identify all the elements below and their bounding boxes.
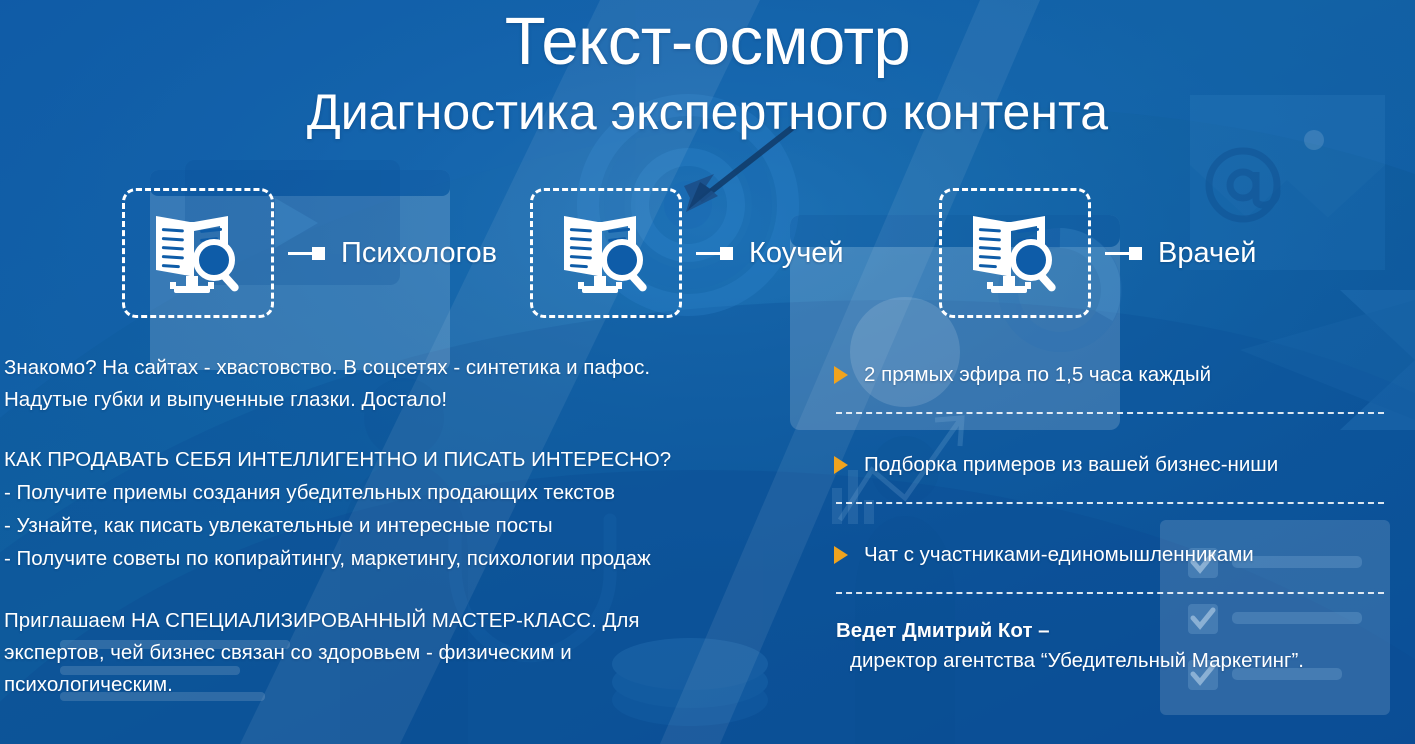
host-name: Ведет Дмитрий Кот – [836,616,1404,646]
triangle-bullet-icon [834,456,848,474]
audience-item-doctors[interactable]: Врачей [939,188,1256,318]
spacer [826,428,1404,442]
audience-label: Коучей [749,237,844,270]
divider [836,592,1384,594]
connector-line [288,252,312,255]
list-item: 2 прямых эфира по 1,5 часа каждый [826,352,1404,398]
list-item: Чат с участниками-единомышленниками [826,532,1404,578]
audience-icon-box [939,188,1091,318]
right-features-column: 2 прямых эфира по 1,5 часа каждый Подбор… [826,352,1404,676]
book-magnifier-icon [967,210,1063,296]
section-heading: КАК ПРОДАВАТЬ СЕБЯ ИНТЕЛЛИГЕНТНО И ПИСАТ… [4,444,804,476]
audience-item-psychologists[interactable]: Психологов [122,188,497,318]
page-title: Текст-осмотр [0,0,1415,75]
list-item: Подборка примеров из вашей бизнес-ниши [826,442,1404,488]
list-item: - Получите советы по копирайтингу, марке… [4,542,804,575]
feature-label: 2 прямых эфира по 1,5 часа каждый [864,363,1211,387]
audience-connector [1105,247,1142,260]
audience-connector [696,247,733,260]
page-subtitle: Диагностика экспертного контента [0,75,1415,137]
divider [836,502,1384,504]
audience-icon-box [122,188,274,318]
book-magnifier-icon [150,210,246,296]
connector-dot [720,247,733,260]
intro-paragraph: Знакомо? На сайтах - хвастовство. В соцс… [4,352,804,416]
spacer [4,575,804,605]
outro-paragraph: Приглашаем НА СПЕЦИАЛИЗИРОВАННЫЙ МАСТЕР-… [4,605,804,701]
host-info: Ведет Дмитрий Кот – директор агентства “… [826,616,1404,676]
connector-dot [1129,247,1142,260]
spacer [826,518,1404,532]
audience-label: Врачей [1158,237,1256,270]
triangle-bullet-icon [834,366,848,384]
list-item: - Получите приемы создания убедительных … [4,476,804,509]
audience-icon-box [530,188,682,318]
divider [836,412,1384,414]
connector-line [1105,252,1129,255]
audience-item-coaches[interactable]: Коучей [530,188,844,318]
audience-label: Психологов [341,237,497,270]
connector-dot [312,247,325,260]
audience-connector [288,247,325,260]
book-magnifier-icon [558,210,654,296]
promo-banner: Текст-осмотр Диагностика экспертного кон… [0,0,1415,744]
host-role: директор агентства “Убедительный Маркети… [836,646,1404,676]
list-item: - Узнайте, как писать увлекательные и ин… [4,509,804,542]
feature-label: Подборка примеров из вашей бизнес-ниши [864,453,1278,477]
connector-line [696,252,720,255]
left-content-column: Знакомо? На сайтах - хвастовство. В соцс… [4,352,804,701]
audience-row: Психологов [0,188,1415,323]
feature-label: Чат с участниками-единомышленниками [864,543,1254,567]
spacer [4,416,804,444]
header: Текст-осмотр Диагностика экспертного кон… [0,0,1415,137]
triangle-bullet-icon [834,546,848,564]
